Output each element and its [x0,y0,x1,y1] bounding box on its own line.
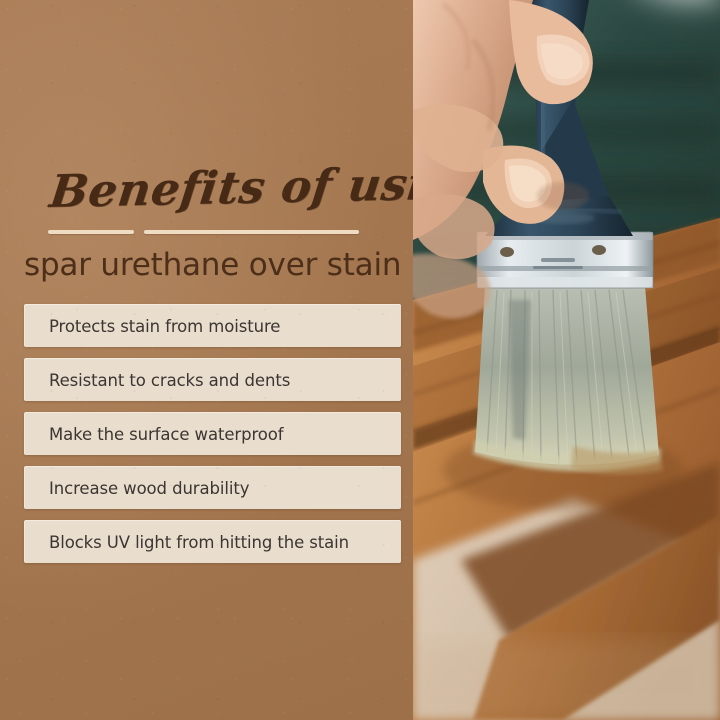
benefit-item-label: Resistant to cracks and dents [49,371,290,390]
subtitle-heading: spar urethane over stain [24,248,424,282]
benefit-list: Protects stain from moisture Resistant t… [24,304,401,563]
infographic-canvas: Benefits of using spar urethane over sta… [0,0,720,720]
benefit-item: Resistant to cracks and dents [24,358,401,401]
benefit-item-label: Increase wood durability [49,479,249,498]
benefit-item-label: Blocks UV light from hitting the stain [49,533,349,552]
brush-photo-illustration [413,0,720,720]
benefit-item: Blocks UV light from hitting the stain [24,520,401,563]
divider-long-rule [144,230,359,234]
heading-block: Benefits of using spar urethane over sta… [0,170,413,215]
heading-divider [48,230,359,234]
benefit-item: Protects stain from moisture [24,304,401,347]
benefit-item: Make the surface waterproof [24,412,401,455]
benefit-item-label: Protects stain from moisture [49,317,280,336]
benefit-item: Increase wood durability [24,466,401,509]
script-heading: Benefits of using [0,161,417,215]
benefit-item-label: Make the surface waterproof [49,425,283,444]
divider-short-rule [48,230,134,234]
left-content-panel: Benefits of using spar urethane over sta… [0,0,413,720]
brush-photo [413,0,720,720]
